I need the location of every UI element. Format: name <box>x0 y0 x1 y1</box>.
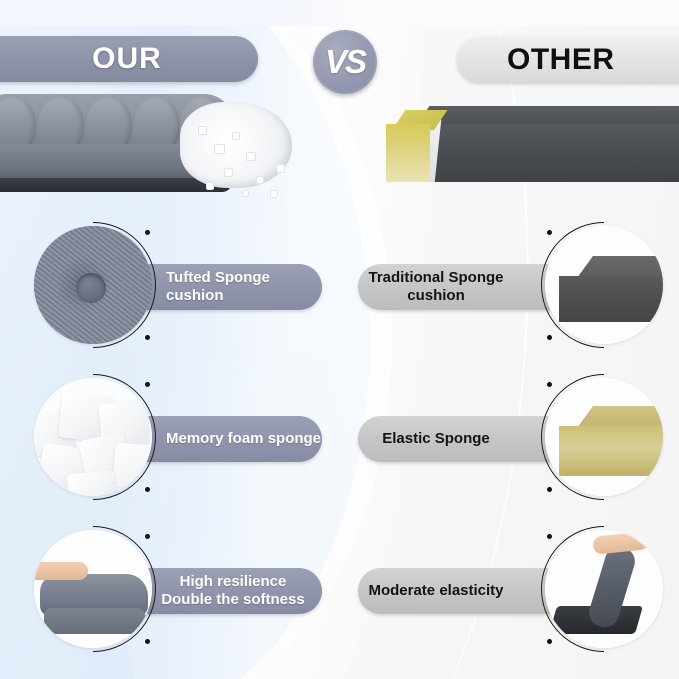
arc-dot <box>145 534 150 539</box>
foam-particle <box>206 182 214 190</box>
hand-icon <box>34 562 88 580</box>
other-feature-image <box>541 526 667 652</box>
arc-dot <box>145 487 150 492</box>
foam-core-face <box>386 124 430 182</box>
other-feature-image <box>541 222 667 348</box>
feature-row: Tufted Sponge cushion Traditional Sponge… <box>0 214 679 364</box>
other-feature-pill: Traditional Sponge cushion <box>358 264 570 310</box>
hero-image-our <box>0 86 300 208</box>
top-background-strip <box>0 0 679 26</box>
arc-dot <box>145 335 150 340</box>
our-feature-line2: Double the softness <box>161 591 304 608</box>
mattress-front-face <box>404 124 679 182</box>
arc-dot <box>547 230 552 235</box>
foam-particle <box>270 190 278 198</box>
foam-particle <box>276 164 285 173</box>
our-feature-label: Memory foam sponge <box>166 430 321 448</box>
arc-dot <box>547 487 552 492</box>
other-feature-image <box>541 374 667 500</box>
our-banner-label: OUR <box>92 42 162 76</box>
arc-dot <box>547 534 552 539</box>
other-feature-pill: Moderate elasticity <box>358 568 570 614</box>
arc-dot <box>145 639 150 644</box>
other-feature-line1: Traditional Sponge <box>368 269 503 286</box>
foam-particle <box>256 176 264 184</box>
arc-dot <box>145 230 150 235</box>
arc-dot <box>547 382 552 387</box>
arc-dot <box>547 639 552 644</box>
foam-particle <box>232 132 240 140</box>
foam-particle <box>214 144 225 154</box>
foam-particle <box>198 126 207 135</box>
other-banner: OTHER <box>457 36 679 82</box>
other-feature-label: Traditional Sponge cushion <box>368 269 503 304</box>
other-feature-line2: cushion <box>407 287 465 304</box>
feature-row: High resilience Double the softness Mode… <box>0 518 679 668</box>
feature-row: Memory foam sponge Elastic Sponge <box>0 366 679 516</box>
hero-image-other <box>386 106 679 194</box>
foam-particle <box>224 168 233 177</box>
our-feature-line2: cushion <box>166 287 224 304</box>
bed-foam-cutaway <box>180 102 292 188</box>
our-feature-label: Tufted Sponge cushion <box>166 269 270 304</box>
our-banner: OUR <box>0 36 258 82</box>
foam-particle <box>246 152 256 161</box>
other-banner-label: OTHER <box>507 43 615 77</box>
mattress-top-face <box>416 106 679 126</box>
other-feature-label: Moderate elasticity <box>368 582 503 600</box>
our-feature-image <box>30 222 156 348</box>
vs-badge-label: VS <box>325 43 365 81</box>
arc-dot <box>145 382 150 387</box>
foam-particle <box>242 190 249 197</box>
vs-badge: VS <box>313 30 377 94</box>
other-feature-pill: Elastic Sponge <box>358 416 570 462</box>
our-feature-image <box>30 374 156 500</box>
comparison-infographic: OUR VS OTHER Tufted Sponge cushion Tradi… <box>0 0 679 679</box>
arc-dot <box>547 335 552 340</box>
our-feature-line1: High resilience <box>180 573 287 590</box>
our-feature-image <box>30 526 156 652</box>
our-feature-line1: Tufted Sponge <box>166 269 270 286</box>
other-feature-label: Elastic Sponge <box>382 430 490 448</box>
our-feature-label: High resilience Double the softness <box>154 573 322 608</box>
